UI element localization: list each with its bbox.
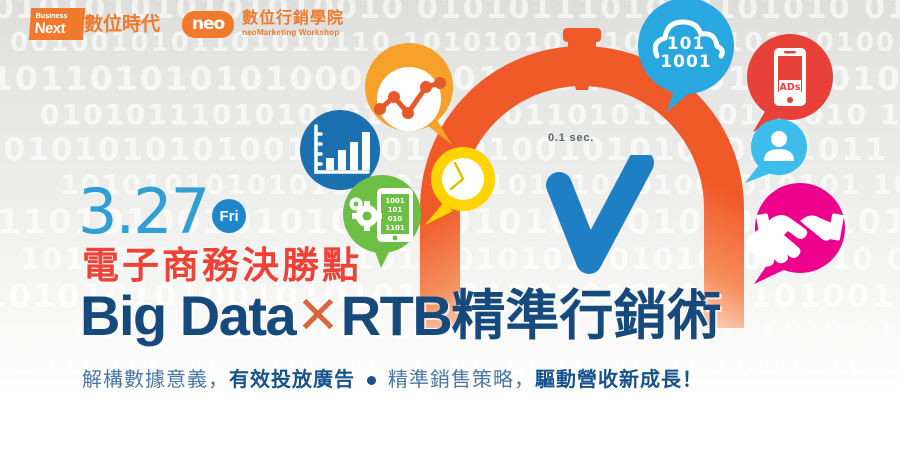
business-next-next-text: Next [34,21,84,36]
checkmark-icon [545,155,655,280]
subtitle-separator-dot [367,376,376,385]
bubble-cloud-binary: 101 1001 [627,0,745,114]
red-subheadline: 電子商務決勝點 [82,247,362,284]
stopwatch-seconds-label: 0.1 sec. [548,132,594,144]
headline-chinese: 精準行銷術 [451,289,721,343]
headline-rtb: RTB [341,288,452,344]
headline-big-data: Big Data [80,288,295,344]
bubble-handshake [742,180,850,290]
date-weekday-badge: Fri [212,199,246,233]
headline-cross-icon: ✕ [296,290,340,342]
neo-english-name: neoMarketing Workshop [242,29,344,37]
neo-logo[interactable]: neo 數位行銷學院 neoMarketing Workshop [182,11,344,38]
subtitle-part-3: 精準銷售策略， [388,368,535,392]
main-headline: Big Data ✕ RTB 精準行銷術 [80,288,721,344]
business-next-mark: Business Next [29,8,85,40]
date-number: 3.27 [78,183,208,240]
svg-text:101: 101 [388,206,403,214]
svg-text:010: 010 [388,215,403,223]
subtitle-part-2: 有效投放廣告 [229,368,355,392]
svg-text:1001: 1001 [385,197,405,205]
bubble-user-profile [741,117,811,189]
bubble-clock [423,145,501,227]
business-next-business-text: Business [35,12,85,20]
promo-banner: 1010101010101010010 0101011101010101010 … [0,0,900,450]
logo-group: Business Next 數位時代 neo 數位行銷學院 neoMarketi… [30,8,344,40]
svg-text:101: 101 [667,34,706,54]
subtitle-part-1: 解構數據意義， [82,368,229,392]
svg-text:1101: 1101 [385,224,405,232]
event-date: 3.27 Fri [78,183,246,240]
neo-chinese-name: 數位行銷學院 [242,11,344,28]
event-subtitle: 解構數據意義， 有效投放廣告 精準銷售策略， 驅動營收新成長！ [82,368,703,392]
svg-text:ADs: ADs [780,82,801,93]
business-next-logo[interactable]: Business Next 數位時代 [30,8,160,40]
svg-text:1001: 1001 [660,52,711,72]
business-next-chinese-name: 數位時代 [84,15,160,34]
neo-mark: neo [182,11,234,38]
subtitle-part-4: 驅動營收新成長！ [535,368,703,392]
smartphone-ads-icon: ADs [774,48,806,106]
